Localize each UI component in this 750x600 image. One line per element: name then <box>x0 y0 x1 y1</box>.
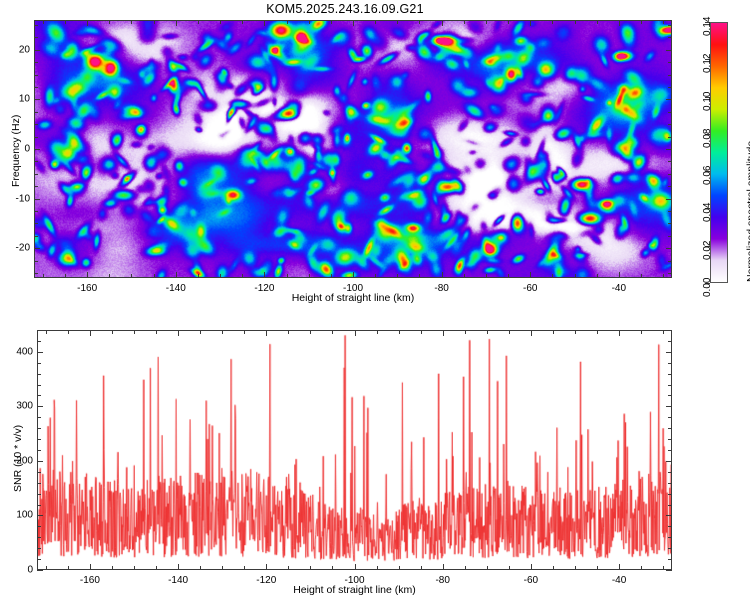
axis-minor-tick <box>668 483 672 484</box>
axis-minor-tick <box>668 439 672 440</box>
axis-minor-tick <box>668 526 672 527</box>
axis-minor-tick <box>37 363 41 364</box>
axis-minor-tick <box>310 330 311 334</box>
axis-minor-tick <box>134 566 135 570</box>
axis-minor-tick <box>575 20 576 24</box>
axis-major-tick <box>666 248 672 249</box>
axis-minor-tick <box>43 274 44 278</box>
axis-minor-tick <box>663 20 664 24</box>
axis-major-tick <box>666 50 672 51</box>
axis-major-tick <box>666 99 672 100</box>
axis-minor-tick <box>668 374 672 375</box>
axis-major-tick <box>531 330 532 336</box>
axis-minor-tick <box>668 273 672 274</box>
axis-minor-tick <box>34 261 38 262</box>
axis-minor-tick <box>486 274 487 278</box>
axis-minor-tick <box>222 330 223 334</box>
axis-minor-tick <box>377 330 378 334</box>
axis-minor-tick <box>34 112 38 113</box>
axis-minor-tick <box>668 174 672 175</box>
axis-minor-tick <box>200 566 201 570</box>
axis-major-tick <box>442 272 443 278</box>
spectrogram-canvas <box>35 21 671 277</box>
axis-major-tick <box>176 20 177 26</box>
axis-minor-tick <box>508 20 509 24</box>
axis-major-tick <box>37 570 43 571</box>
axis-minor-tick <box>597 274 598 278</box>
axis-minor-tick <box>34 211 38 212</box>
axis-major-tick <box>530 272 531 278</box>
axis-minor-tick <box>37 428 41 429</box>
axis-minor-tick <box>668 505 672 506</box>
y-tick-label: 400 <box>3 346 33 357</box>
x-tick-label: -140 <box>168 575 188 586</box>
axis-minor-tick <box>553 330 554 334</box>
axis-major-tick <box>353 272 354 278</box>
axis-major-tick <box>34 199 40 200</box>
axis-minor-tick <box>287 20 288 24</box>
axis-minor-tick <box>43 20 44 24</box>
axis-minor-tick <box>37 526 41 527</box>
axis-minor-tick <box>37 548 41 549</box>
axis-major-tick <box>619 20 620 26</box>
axis-minor-tick <box>668 75 672 76</box>
axis-minor-tick <box>34 37 38 38</box>
axis-minor-tick <box>109 274 110 278</box>
axis-major-tick <box>264 272 265 278</box>
axis-minor-tick <box>331 20 332 24</box>
axis-minor-tick <box>397 20 398 24</box>
axis-minor-tick <box>288 566 289 570</box>
axis-minor-tick <box>309 20 310 24</box>
axis-minor-tick <box>37 439 41 440</box>
axis-major-tick <box>34 149 40 150</box>
axis-minor-tick <box>668 417 672 418</box>
axis-minor-tick <box>668 341 672 342</box>
axis-major-tick <box>90 330 91 336</box>
axis-minor-tick <box>487 330 488 334</box>
axis-minor-tick <box>668 25 672 26</box>
axis-minor-tick <box>597 20 598 24</box>
axis-minor-tick <box>668 186 672 187</box>
colorbar-tick-label: 0.06 <box>702 166 713 185</box>
axis-minor-tick <box>668 494 672 495</box>
axis-major-tick <box>619 330 620 336</box>
axis-minor-tick <box>242 274 243 278</box>
axis-major-tick <box>34 248 40 249</box>
axis-major-tick <box>619 272 620 278</box>
axis-minor-tick <box>37 537 41 538</box>
axis-minor-tick <box>242 20 243 24</box>
axis-minor-tick <box>487 566 488 570</box>
axis-major-tick <box>355 564 356 570</box>
axis-minor-tick <box>309 274 310 278</box>
axis-major-tick <box>442 20 443 26</box>
axis-major-tick <box>266 330 267 336</box>
axis-minor-tick <box>198 20 199 24</box>
axis-minor-tick <box>641 274 642 278</box>
axis-major-tick <box>87 20 88 26</box>
axis-minor-tick <box>575 274 576 278</box>
axis-minor-tick <box>668 87 672 88</box>
x-tick-label: -140 <box>166 283 186 294</box>
axis-major-tick <box>443 564 444 570</box>
snr-panel <box>37 330 672 570</box>
axis-minor-tick <box>37 494 41 495</box>
axis-minor-tick <box>377 566 378 570</box>
axis-minor-tick <box>668 450 672 451</box>
axis-minor-tick <box>34 273 38 274</box>
colorbar-tick-label: 0.12 <box>702 54 713 73</box>
colorbar-tick-label: 0.02 <box>702 240 713 259</box>
axis-minor-tick <box>663 330 664 334</box>
axis-minor-tick <box>37 417 41 418</box>
axis-minor-tick <box>668 124 672 125</box>
axis-major-tick <box>666 352 672 353</box>
y-tick-label: -10 <box>0 193 30 204</box>
axis-minor-tick <box>37 330 41 331</box>
axis-minor-tick <box>668 112 672 113</box>
axis-minor-tick <box>156 330 157 334</box>
axis-major-tick <box>87 272 88 278</box>
axis-minor-tick <box>222 566 223 570</box>
axis-minor-tick <box>668 261 672 262</box>
axis-minor-tick <box>575 330 576 334</box>
axis-minor-tick <box>68 566 69 570</box>
axis-minor-tick <box>46 566 47 570</box>
axis-minor-tick <box>399 566 400 570</box>
axis-minor-tick <box>34 186 38 187</box>
axis-major-tick <box>178 564 179 570</box>
axis-minor-tick <box>552 20 553 24</box>
axis-minor-tick <box>154 274 155 278</box>
axis-major-tick <box>266 564 267 570</box>
axis-minor-tick <box>310 566 311 570</box>
axis-major-tick <box>666 199 672 200</box>
snr-canvas <box>38 331 671 569</box>
y-tick-label: 300 <box>3 401 33 412</box>
axis-minor-tick <box>668 161 672 162</box>
axis-minor-tick <box>109 20 110 24</box>
axis-major-tick <box>34 99 40 100</box>
axis-minor-tick <box>641 330 642 334</box>
axis-minor-tick <box>399 330 400 334</box>
axis-major-tick <box>178 330 179 336</box>
axis-major-tick <box>530 20 531 26</box>
axis-minor-tick <box>37 505 41 506</box>
axis-minor-tick <box>34 124 38 125</box>
axis-minor-tick <box>37 559 41 560</box>
axis-major-tick <box>176 272 177 278</box>
x-tick-label: -120 <box>256 575 276 586</box>
axis-major-tick <box>264 20 265 26</box>
spectrogram-panel <box>34 20 672 278</box>
axis-minor-tick <box>112 566 113 570</box>
axis-minor-tick <box>220 274 221 278</box>
axis-minor-tick <box>668 537 672 538</box>
axis-minor-tick <box>220 20 221 24</box>
axis-minor-tick <box>34 161 38 162</box>
y-tick-label: -20 <box>0 243 30 254</box>
axis-minor-tick <box>465 566 466 570</box>
axis-minor-tick <box>419 274 420 278</box>
axis-major-tick <box>666 570 672 571</box>
x-tick-label: -160 <box>80 575 100 586</box>
axis-major-tick <box>37 406 43 407</box>
axis-minor-tick <box>668 37 672 38</box>
axis-major-tick <box>355 330 356 336</box>
axis-minor-tick <box>421 330 422 334</box>
axis-minor-tick <box>668 363 672 364</box>
axis-minor-tick <box>131 274 132 278</box>
axis-major-tick <box>666 461 672 462</box>
spectrogram-x-axis-title: Height of straight line (km) <box>292 292 415 304</box>
axis-minor-tick <box>575 566 576 570</box>
axis-major-tick <box>666 406 672 407</box>
colorbar-tick-label: 0.08 <box>702 128 713 147</box>
axis-minor-tick <box>668 62 672 63</box>
axis-minor-tick <box>668 330 672 331</box>
axis-minor-tick <box>200 330 201 334</box>
axis-minor-tick <box>198 274 199 278</box>
x-tick-label: -40 <box>612 575 626 586</box>
axis-major-tick <box>353 20 354 26</box>
colorbar-tick-label: 0.00 <box>702 278 713 297</box>
axis-minor-tick <box>134 330 135 334</box>
colorbar-title: Normalized spectral amplitude <box>745 141 750 282</box>
axis-minor-tick <box>34 137 38 138</box>
axis-minor-tick <box>397 274 398 278</box>
axis-minor-tick <box>486 20 487 24</box>
axis-minor-tick <box>668 385 672 386</box>
axis-minor-tick <box>641 20 642 24</box>
axis-minor-tick <box>668 211 672 212</box>
axis-minor-tick <box>332 566 333 570</box>
axis-minor-tick <box>668 236 672 237</box>
axis-minor-tick <box>332 330 333 334</box>
y-tick-label: 0 <box>3 565 33 576</box>
snr-x-axis-title: Height of straight line (km) <box>293 584 416 596</box>
axis-minor-tick <box>668 472 672 473</box>
axis-minor-tick <box>37 450 41 451</box>
axis-minor-tick <box>34 87 38 88</box>
page-title: KOM5.2025.243.16.09.G21 <box>0 2 690 16</box>
snr-y-axis-title: SNR (10 * v/v) <box>12 425 24 492</box>
axis-major-tick <box>37 461 43 462</box>
x-tick-label: -40 <box>612 283 626 294</box>
x-tick-label: -80 <box>435 575 449 586</box>
axis-minor-tick <box>46 330 47 334</box>
axis-minor-tick <box>668 548 672 549</box>
axis-minor-tick <box>663 274 664 278</box>
axis-minor-tick <box>509 330 510 334</box>
axis-minor-tick <box>668 223 672 224</box>
axis-minor-tick <box>663 566 664 570</box>
axis-minor-tick <box>65 20 66 24</box>
axis-major-tick <box>531 564 532 570</box>
axis-major-tick <box>90 564 91 570</box>
spectrogram-y-axis-title: Frequency (Hz) <box>10 115 22 187</box>
axis-minor-tick <box>464 274 465 278</box>
axis-minor-tick <box>668 428 672 429</box>
axis-minor-tick <box>37 472 41 473</box>
axis-minor-tick <box>156 566 157 570</box>
axis-minor-tick <box>154 20 155 24</box>
axis-minor-tick <box>668 395 672 396</box>
axis-minor-tick <box>597 566 598 570</box>
axis-minor-tick <box>37 395 41 396</box>
colorbar-tick-label: 0.14 <box>702 17 713 36</box>
axis-minor-tick <box>68 330 69 334</box>
axis-major-tick <box>619 564 620 570</box>
axis-minor-tick <box>112 330 113 334</box>
x-tick-label: -80 <box>434 283 448 294</box>
axis-minor-tick <box>37 483 41 484</box>
x-tick-label: -60 <box>524 575 538 586</box>
axis-minor-tick <box>65 274 66 278</box>
axis-major-tick <box>666 515 672 516</box>
axis-minor-tick <box>597 330 598 334</box>
axis-minor-tick <box>668 559 672 560</box>
axis-minor-tick <box>421 566 422 570</box>
axis-minor-tick <box>464 20 465 24</box>
axis-major-tick <box>37 515 43 516</box>
axis-minor-tick <box>287 274 288 278</box>
axis-minor-tick <box>375 20 376 24</box>
axis-minor-tick <box>37 385 41 386</box>
x-tick-label: -60 <box>523 283 537 294</box>
colorbar-tick-label: 0.10 <box>702 91 713 110</box>
axis-major-tick <box>443 330 444 336</box>
axis-minor-tick <box>34 62 38 63</box>
axis-minor-tick <box>641 566 642 570</box>
axis-minor-tick <box>552 274 553 278</box>
y-tick-label: 20 <box>0 44 30 55</box>
x-tick-label: -160 <box>77 283 97 294</box>
axis-minor-tick <box>375 274 376 278</box>
axis-major-tick <box>37 352 43 353</box>
axis-minor-tick <box>34 25 38 26</box>
axis-minor-tick <box>131 20 132 24</box>
axis-minor-tick <box>244 330 245 334</box>
axis-minor-tick <box>668 137 672 138</box>
axis-minor-tick <box>553 566 554 570</box>
axis-minor-tick <box>509 566 510 570</box>
axis-minor-tick <box>465 330 466 334</box>
axis-major-tick <box>34 50 40 51</box>
colorbar-tick-label: 0.04 <box>702 203 713 222</box>
axis-minor-tick <box>419 20 420 24</box>
axis-minor-tick <box>331 274 332 278</box>
axis-minor-tick <box>37 341 41 342</box>
axis-major-tick <box>666 149 672 150</box>
axis-minor-tick <box>34 236 38 237</box>
axis-minor-tick <box>508 274 509 278</box>
axis-minor-tick <box>34 223 38 224</box>
axis-minor-tick <box>34 75 38 76</box>
x-tick-label: -120 <box>254 283 274 294</box>
figure-root: KOM5.2025.243.16.09.G21 -160-140-120-100… <box>0 0 750 600</box>
axis-minor-tick <box>34 174 38 175</box>
y-tick-label: 10 <box>0 94 30 105</box>
axis-minor-tick <box>244 566 245 570</box>
axis-minor-tick <box>37 374 41 375</box>
axis-minor-tick <box>288 330 289 334</box>
y-tick-label: 100 <box>3 510 33 521</box>
